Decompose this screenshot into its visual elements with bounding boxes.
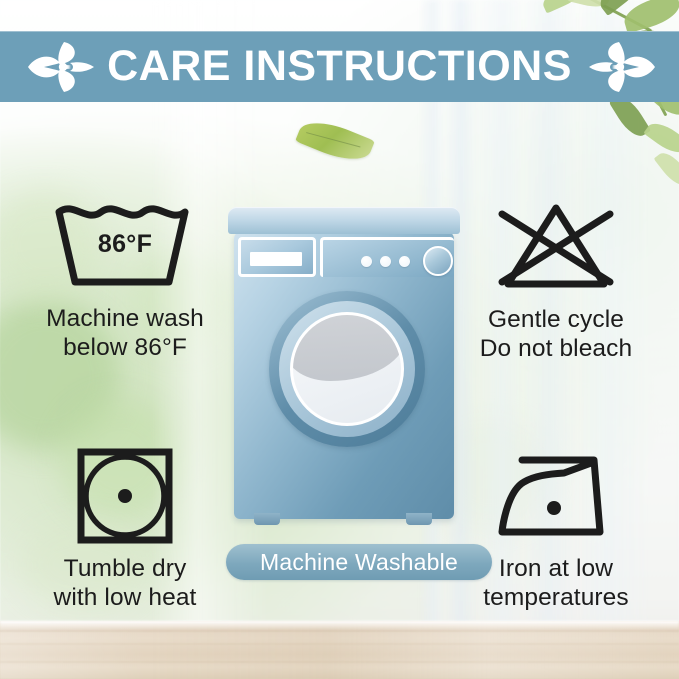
washer-door-outer-ring xyxy=(269,291,425,447)
indicator-light-icon xyxy=(361,256,372,267)
tumble-dry-shape xyxy=(45,446,205,546)
iron-shape xyxy=(476,446,636,546)
care-icon-caption: Machine wash below 86°F xyxy=(8,304,242,362)
care-icon-caption: Iron at low temperatures xyxy=(439,554,673,612)
iron-one-dot-icon xyxy=(439,446,673,546)
plant-leaf xyxy=(654,148,679,191)
no-bleach-shape xyxy=(476,196,636,296)
washer-foot xyxy=(254,513,280,525)
care-icon-machine-wash: 86°F Machine wash below 86°F xyxy=(8,196,242,362)
tumble-dry-low-icon xyxy=(8,446,242,546)
wood-grain xyxy=(0,621,679,679)
detergent-drawer xyxy=(238,237,316,277)
care-icon-caption: Tumble dry with low heat xyxy=(8,554,242,612)
care-icon-tumble-dry: Tumble dry with low heat xyxy=(8,446,242,612)
control-panel xyxy=(320,237,454,277)
care-instructions-infographic: CARE INSTRUCTIONS xyxy=(0,0,679,679)
indicator-light-icon xyxy=(399,256,410,267)
header-banner: CARE INSTRUCTIONS xyxy=(0,31,679,102)
care-icon-caption: Gentle cycle Do not bleach xyxy=(439,305,673,363)
washer-door-glass xyxy=(290,312,404,426)
status-badge-label: Machine Washable xyxy=(260,549,458,576)
page-title: CARE INSTRUCTIONS xyxy=(107,45,572,88)
wooden-table-surface xyxy=(0,621,679,679)
care-icon-iron-low: Iron at low temperatures xyxy=(439,446,673,612)
washer-top-lid xyxy=(228,207,460,234)
glass-reflection xyxy=(290,312,404,381)
fleur-de-lis-icon xyxy=(583,39,657,95)
indicator-light-icon xyxy=(380,256,391,267)
table-edge-highlight xyxy=(0,621,679,629)
wash-tub-icon: 86°F xyxy=(8,196,242,296)
fleur-de-lis-icon xyxy=(26,39,100,95)
care-icon-no-bleach: Gentle cycle Do not bleach xyxy=(439,196,673,363)
triangle-crossed-out-icon xyxy=(439,196,673,296)
washing-machine-illustration xyxy=(228,207,460,537)
washer-foot xyxy=(406,513,432,525)
washer-door-mid-ring xyxy=(279,301,415,437)
wash-temperature-label: 86°F xyxy=(45,230,205,259)
